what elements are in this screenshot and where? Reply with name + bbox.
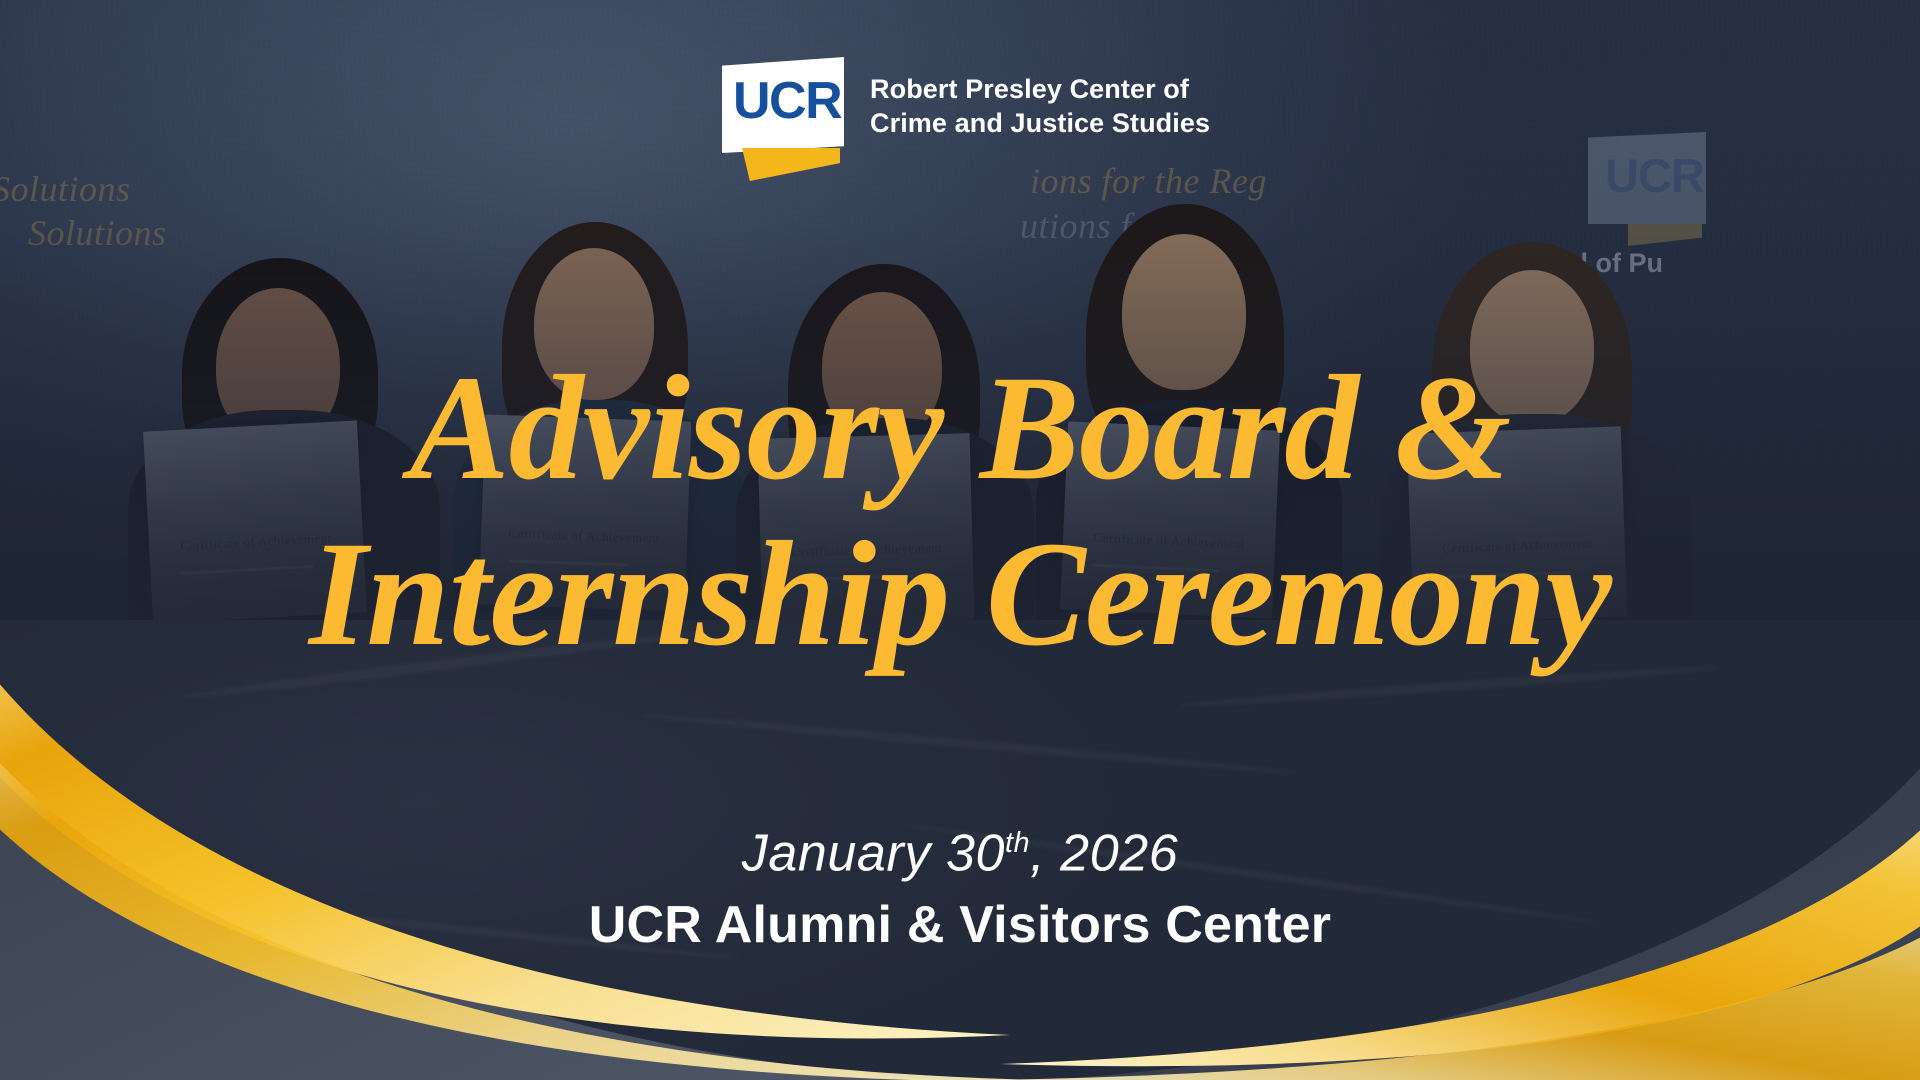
organization-name: Robert Presley Center of Crime and Justi…	[870, 72, 1210, 140]
event-title-line-2: Internship Ceremony	[0, 511, 1920, 677]
organization-name-line-2: Crime and Justice Studies	[870, 106, 1210, 140]
event-date: January 30th, 2026	[0, 812, 1920, 884]
event-title-line-1: Advisory Board &	[0, 345, 1920, 511]
event-details: January 30th, 2026 UCR Alumni & Visitors…	[0, 812, 1920, 958]
marble-vein	[641, 711, 1299, 776]
event-date-monthday: January 30	[742, 824, 1005, 882]
logo-ucr-text: UCR	[733, 75, 841, 127]
logo-gold-tail-icon	[742, 148, 840, 181]
ucr-presley-center-logo: UCR Robert Presley Center of Crime and J…	[722, 57, 1222, 187]
event-date-year: , 2026	[1030, 824, 1178, 882]
event-flyer: Solutions Solutions S ions for the Reg u…	[0, 0, 1920, 1080]
event-date-ordinal: th	[1005, 827, 1030, 859]
event-title: Advisory Board & Internship Ceremony	[0, 345, 1920, 677]
organization-name-line-1: Robert Presley Center of	[870, 72, 1210, 106]
event-venue: UCR Alumni & Visitors Center	[0, 892, 1920, 958]
